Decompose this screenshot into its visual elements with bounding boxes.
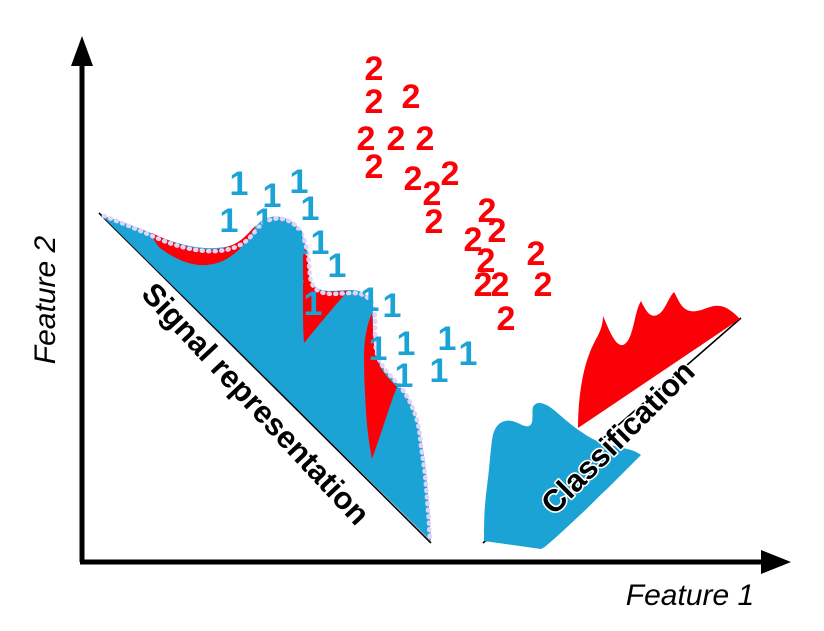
- class2-marker-4: 2: [387, 120, 406, 158]
- class1-marker-17: 1: [395, 357, 414, 395]
- class2-marker-9: 2: [441, 155, 460, 193]
- class2-marker-5: 2: [416, 120, 435, 158]
- class2-marker-18: 2: [534, 266, 553, 304]
- class1-marker-0: 1: [230, 165, 249, 203]
- class1-marker-12: 1: [383, 287, 402, 325]
- x-axis-arrowhead: [761, 550, 791, 574]
- class1-marker-3: 1: [220, 202, 239, 240]
- class1-marker-13: 1: [344, 315, 363, 353]
- y-axis-label: Feature 2: [29, 235, 62, 364]
- figure-root: Feature 2 Feature 1 Signal representatio…: [0, 0, 824, 631]
- class2-marker-10: 2: [425, 203, 444, 241]
- x-axis-label: Feature 1: [626, 579, 754, 612]
- class2-marker-17: 2: [491, 266, 510, 304]
- class1-marker-14: 1: [369, 330, 388, 368]
- feature-space-diagram: Feature 2 Feature 1 Signal representatio…: [0, 0, 824, 631]
- class2-marker-2: 2: [402, 78, 421, 116]
- class1-marker-4: 1: [255, 202, 274, 240]
- class2-marker-1: 2: [365, 83, 384, 121]
- class1-marker-10: 1: [304, 285, 323, 323]
- class1-marker-11: 1: [361, 281, 380, 319]
- class1-marker-5: 1: [301, 190, 320, 228]
- class2-marker-19: 2: [497, 300, 516, 338]
- class2-marker-7: 2: [404, 160, 423, 198]
- class1-marker-19: 1: [459, 335, 478, 373]
- class1-marker-18: 1: [430, 352, 449, 390]
- classification-region: Classification: [483, 292, 741, 549]
- signal-representation-region: Signal representation: [99, 213, 431, 543]
- class1-marker-9: 1: [328, 247, 347, 285]
- class2-marker-6: 2: [365, 148, 384, 186]
- y-axis-arrowhead: [71, 36, 93, 66]
- class1-marker-8: 1: [286, 253, 305, 291]
